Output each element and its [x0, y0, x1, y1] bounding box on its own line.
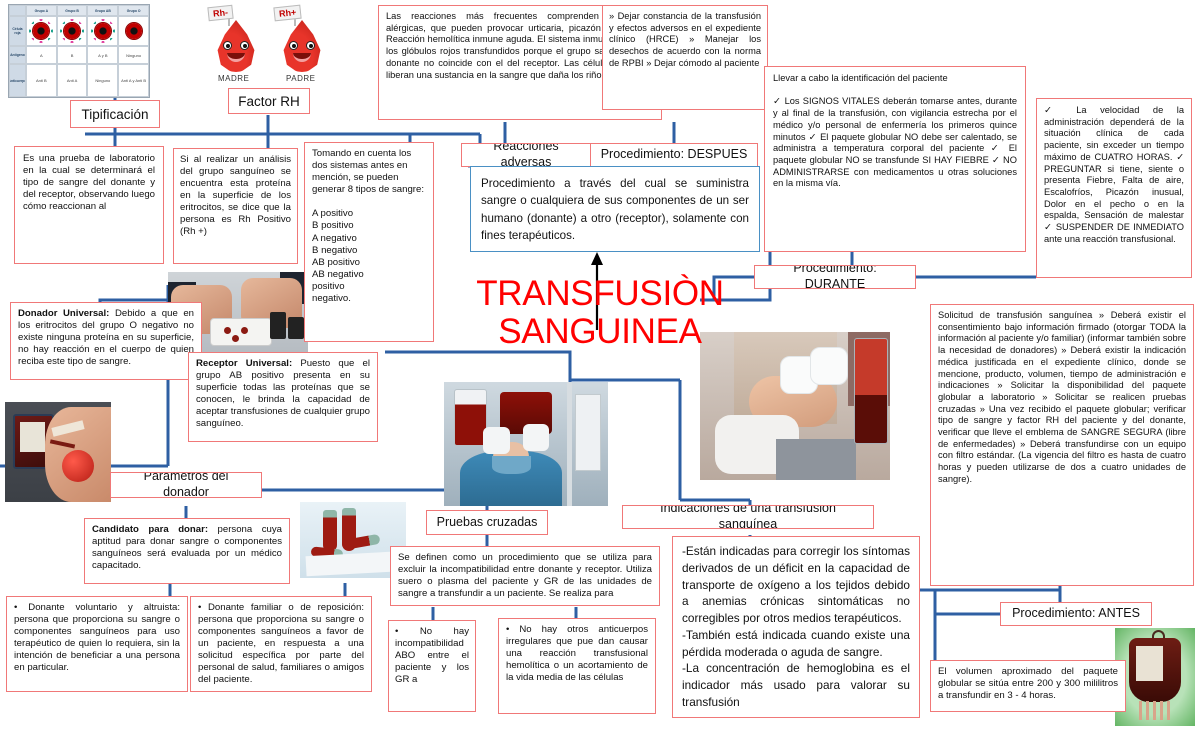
droplet-father: [282, 20, 322, 72]
node-factor-rh[interactable]: Factor RH: [228, 88, 310, 114]
node-indicaciones-label: Indicaciones de una transfusión sanguíne…: [631, 505, 865, 529]
node-procedimiento-antes-label: Procedimiento: ANTES: [1012, 606, 1140, 622]
bt-row-label-rbc: Célula roja: [9, 16, 26, 46]
concept-map-canvas: Grupo A Grupo B Grupo AB Grupo O Célula …: [0, 0, 1200, 729]
bt-antigen-ab: A y B: [87, 46, 118, 64]
bt-antigen-b: B: [57, 46, 88, 64]
donador-universal-term: Donador Universal:: [18, 308, 109, 319]
bt-header-b: Grupo B: [57, 5, 88, 16]
node-despues-desc[interactable]: » Dejar constancia de la transfusión y e…: [602, 5, 768, 110]
bt-header-a: Grupo A: [26, 5, 57, 16]
rh-factor-graphic: Rh- MADRE Rh+ PADRE: [200, 4, 340, 88]
bt-antibody-ab: Ninguno: [87, 64, 118, 97]
node-reacciones-adversas[interactable]: Reacciones adversas: [461, 143, 591, 167]
node-donante-voluntario[interactable]: • Donante voluntario y altruista: person…: [6, 596, 188, 692]
bt-rbc-b: [57, 16, 88, 46]
node-parametros-donador[interactable]: Parámetros del donador: [110, 472, 262, 498]
bt-antigen-a: A: [26, 46, 57, 64]
node-tipificacion[interactable]: Tipificación: [70, 100, 160, 128]
bt-rbc-a: [26, 16, 57, 46]
bt-rbc-o: [118, 16, 149, 46]
node-prueba-anticuerpos[interactable]: • No hay otros anticuerpos irregulares q…: [498, 618, 656, 714]
node-pruebas-cruzadas-label: Pruebas cruzadas: [437, 515, 538, 531]
rh-positive-sign: Rh+: [273, 5, 302, 22]
node-indicaciones-desc[interactable]: -Están indicadas para corregir los sínto…: [672, 536, 920, 718]
nurse-blood-bag-photo: [444, 382, 608, 506]
bt-antibody-o: Anti A y Anti B: [118, 64, 149, 97]
rh-caption-padre: PADRE: [286, 74, 315, 83]
node-procedimiento-antes[interactable]: Procedimiento: ANTES: [1000, 602, 1152, 626]
bt-header-o: Grupo O: [118, 5, 149, 16]
node-factor-rh-label: Factor RH: [238, 93, 300, 110]
patient-transfusion-photo: [700, 332, 890, 480]
node-procedimiento-despues[interactable]: Procedimiento: DESPUES: [590, 143, 758, 167]
node-procedimiento-durante-label: Procedimiento: DURANTE: [763, 265, 907, 289]
bt-corner: [9, 5, 26, 16]
node-indicaciones[interactable]: Indicaciones de una transfusión sanguíne…: [622, 505, 874, 529]
bt-row-label-antigen: Antígeno: [9, 46, 26, 64]
node-rh-desc[interactable]: Si al realizar un análisis del grupo san…: [173, 148, 298, 264]
droplet-mother: [216, 20, 256, 72]
node-tipificacion-desc[interactable]: Es una prueba de laboratorio en la cual …: [14, 146, 164, 264]
node-receptor-universal[interactable]: Receptor Universal: Puesto que el grupo …: [188, 352, 378, 442]
node-durante-desc[interactable]: Llevar a cabo la identificación del paci…: [764, 66, 1026, 252]
bt-antibody-a: Anti B: [26, 64, 57, 97]
bt-antibody-b: Anti A: [57, 64, 88, 97]
page-title: TRANSFUSIÒN SANGUINEA: [470, 275, 730, 351]
bt-rbc-ab: [87, 16, 118, 46]
bt-antigen-o: Ninguno: [118, 46, 149, 64]
candidato-term: Candidato para donar:: [92, 524, 208, 535]
node-tipificacion-label: Tipificación: [81, 106, 148, 123]
blood-donation-photo: [5, 402, 111, 502]
node-candidato-donar[interactable]: Candidato para donar: persona cuya aptit…: [84, 518, 290, 584]
bt-header-ab: Grupo AB: [87, 5, 118, 16]
node-volumen-paquete[interactable]: El volumen aproximado del paquete globul…: [930, 660, 1126, 712]
node-procedimiento-despues-label: Procedimiento: DESPUES: [601, 147, 748, 163]
node-pruebas-desc[interactable]: Se definen como un procedimiento que se …: [390, 546, 660, 606]
node-procedimiento-durante[interactable]: Procedimiento: DURANTE: [754, 265, 916, 289]
node-parametros-donador-label: Parámetros del donador: [119, 472, 253, 498]
node-reacciones-adversas-label: Reacciones adversas: [470, 143, 582, 167]
rh-negative-sign: Rh-: [207, 5, 233, 22]
node-definicion[interactable]: Procedimiento a través del cual se sumin…: [470, 166, 760, 252]
node-solicitud-transfusion[interactable]: Solicitud de transfusión sanguínea » Deb…: [930, 304, 1194, 586]
rh-caption-madre: MADRE: [218, 74, 249, 83]
node-donante-familiar[interactable]: • Donante familiar o de reposición: pers…: [190, 596, 372, 692]
node-velocidad-desc[interactable]: ✓ La velocidad de la administración depe…: [1036, 98, 1192, 278]
blood-type-table-graphic: Grupo A Grupo B Grupo AB Grupo O Célula …: [8, 4, 150, 98]
node-ocho-tipos[interactable]: Tomando en cuenta los dos sistemas antes…: [304, 142, 434, 342]
bt-row-label-antibody: Anticuerpo: [9, 64, 26, 97]
receptor-universal-term: Receptor Universal:: [196, 358, 292, 369]
blood-pack-photo: [1115, 628, 1195, 726]
node-donador-universal[interactable]: Donador Universal: Debido a que en los e…: [10, 302, 202, 380]
node-prueba-abo[interactable]: • No hay incompatibilidad ABO entre el p…: [388, 620, 476, 712]
node-pruebas-cruzadas[interactable]: Pruebas cruzadas: [426, 510, 548, 535]
